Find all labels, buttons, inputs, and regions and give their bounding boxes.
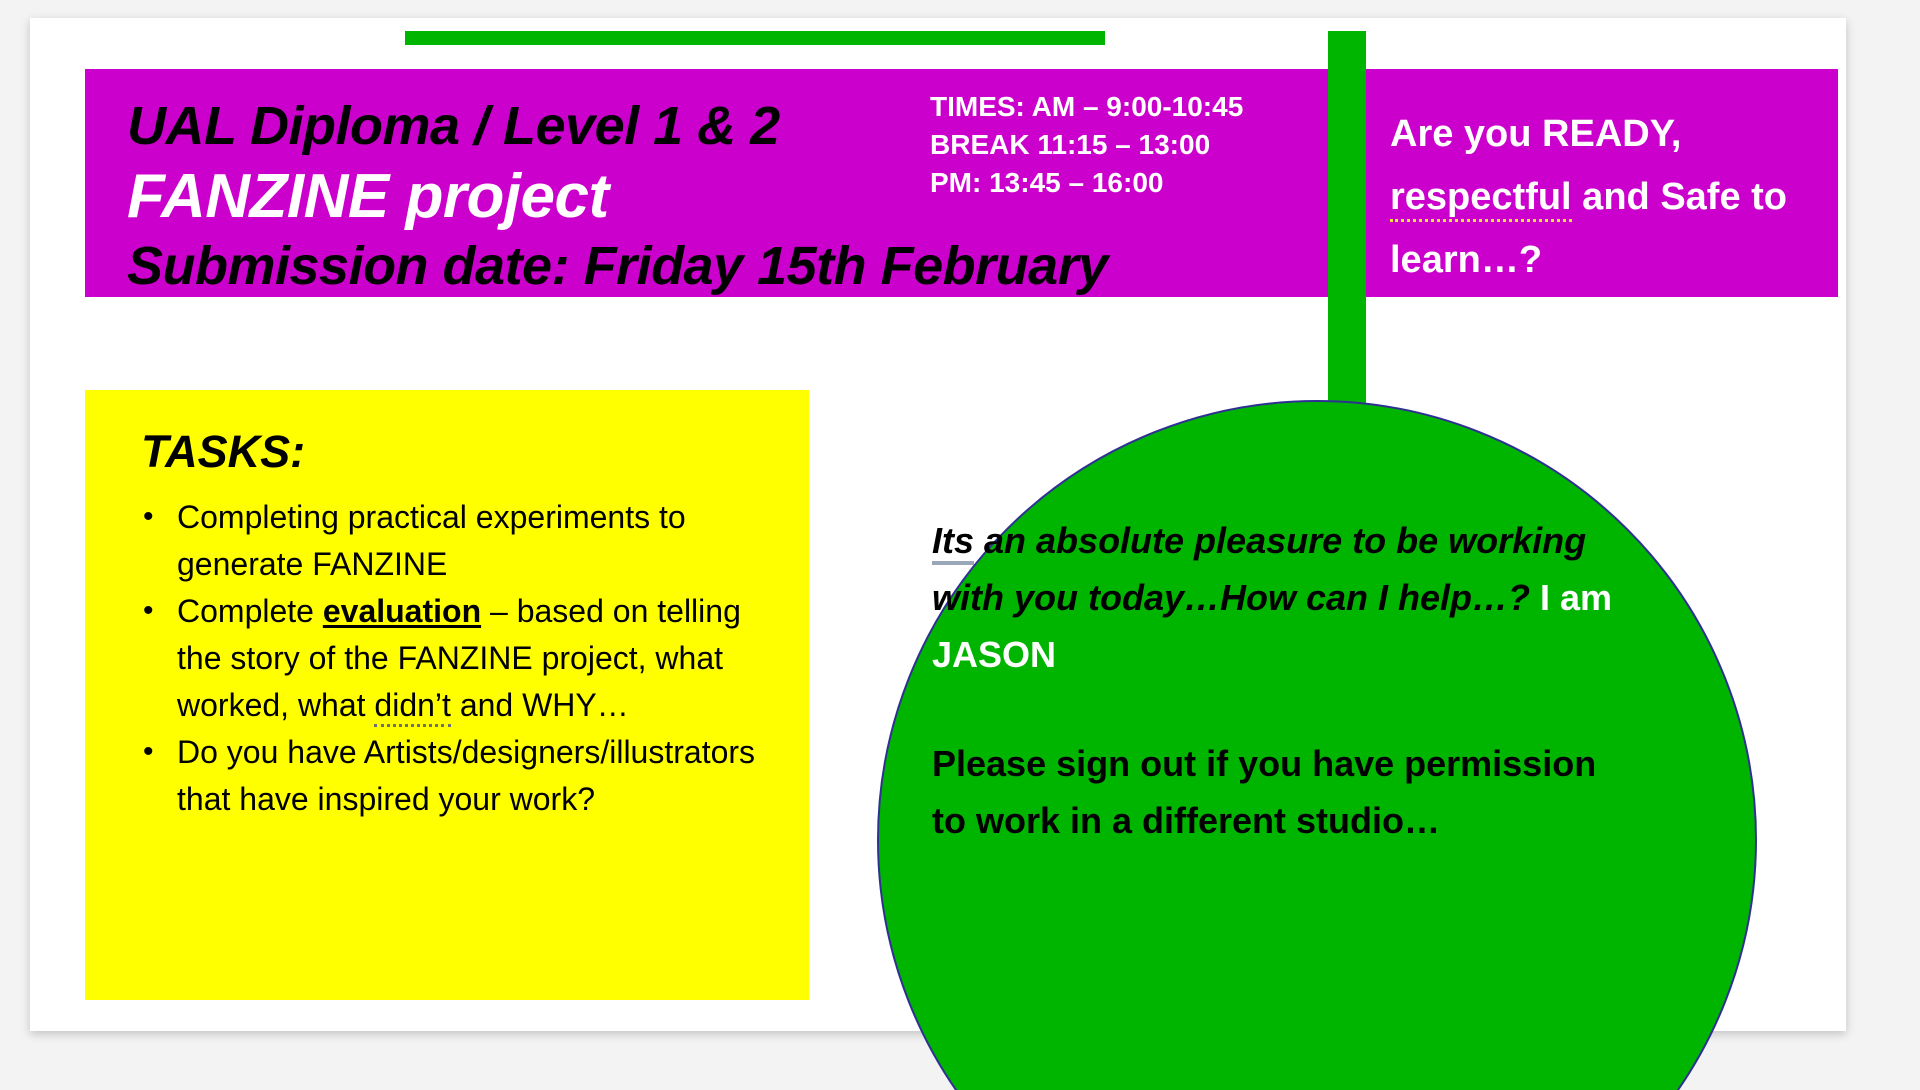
task-item-2: Complete evaluation – based on telling t… bbox=[125, 588, 785, 729]
task-item-3: Do you have Artists/designers/illustrato… bbox=[125, 729, 785, 823]
task-2-tail: and WHY… bbox=[451, 687, 629, 723]
course-title: UAL Diploma / Level 1 & 2 bbox=[127, 95, 780, 157]
ready-word-respectful: respectful bbox=[1390, 176, 1572, 222]
task-1-text: Completing practical experiments to gene… bbox=[177, 499, 686, 582]
times-pm: PM: 13:45 – 16:00 bbox=[930, 164, 1243, 202]
circle-notice: Please sign out if you have permission t… bbox=[932, 735, 1622, 849]
ready-part-3: and bbox=[1572, 176, 1650, 218]
tasks-list: Completing practical experiments to gene… bbox=[125, 494, 785, 823]
times-am: TIMES: AM – 9:00-10:45 bbox=[930, 88, 1243, 126]
circle-text: Its an absolute pleasure to be working w… bbox=[932, 512, 1622, 849]
green-connector-vertical bbox=[1328, 31, 1366, 451]
ready-part-1: Are you READY, bbox=[1390, 113, 1681, 155]
task-2-prefix: Complete bbox=[177, 593, 323, 629]
project-title: FANZINE project bbox=[127, 161, 609, 232]
task-3-text: Do you have Artists/designers/illustrato… bbox=[177, 734, 755, 817]
green-connector-horizontal bbox=[405, 31, 1105, 45]
ready-panel: Are you READY, respectful and Safe to le… bbox=[1366, 69, 1838, 297]
circle-word-its: Its bbox=[932, 520, 974, 565]
tasks-heading: TASKS: bbox=[141, 426, 305, 478]
task-2-emphasis-evaluation: evaluation bbox=[323, 593, 481, 629]
slide-stage: UAL Diploma / Level 1 & 2 FANZINE projec… bbox=[0, 0, 1920, 1090]
times-block: TIMES: AM – 9:00-10:45 BREAK 11:15 – 13:… bbox=[930, 88, 1243, 202]
ready-text: Are you READY, respectful and Safe to le… bbox=[1390, 103, 1820, 292]
circle-greeting: Its an absolute pleasure to be working w… bbox=[932, 512, 1622, 683]
task-2-word-didnt: didn’t bbox=[374, 687, 451, 727]
tasks-box: TASKS: Completing practical experiments … bbox=[85, 390, 809, 1000]
times-break: BREAK 11:15 – 13:00 bbox=[930, 126, 1243, 164]
circle-greeting-rest: an absolute pleasure to be working with … bbox=[932, 520, 1586, 618]
task-item-1: Completing practical experiments to gene… bbox=[125, 494, 785, 588]
submission-date: Submission date: Friday 15th February bbox=[127, 235, 1108, 297]
